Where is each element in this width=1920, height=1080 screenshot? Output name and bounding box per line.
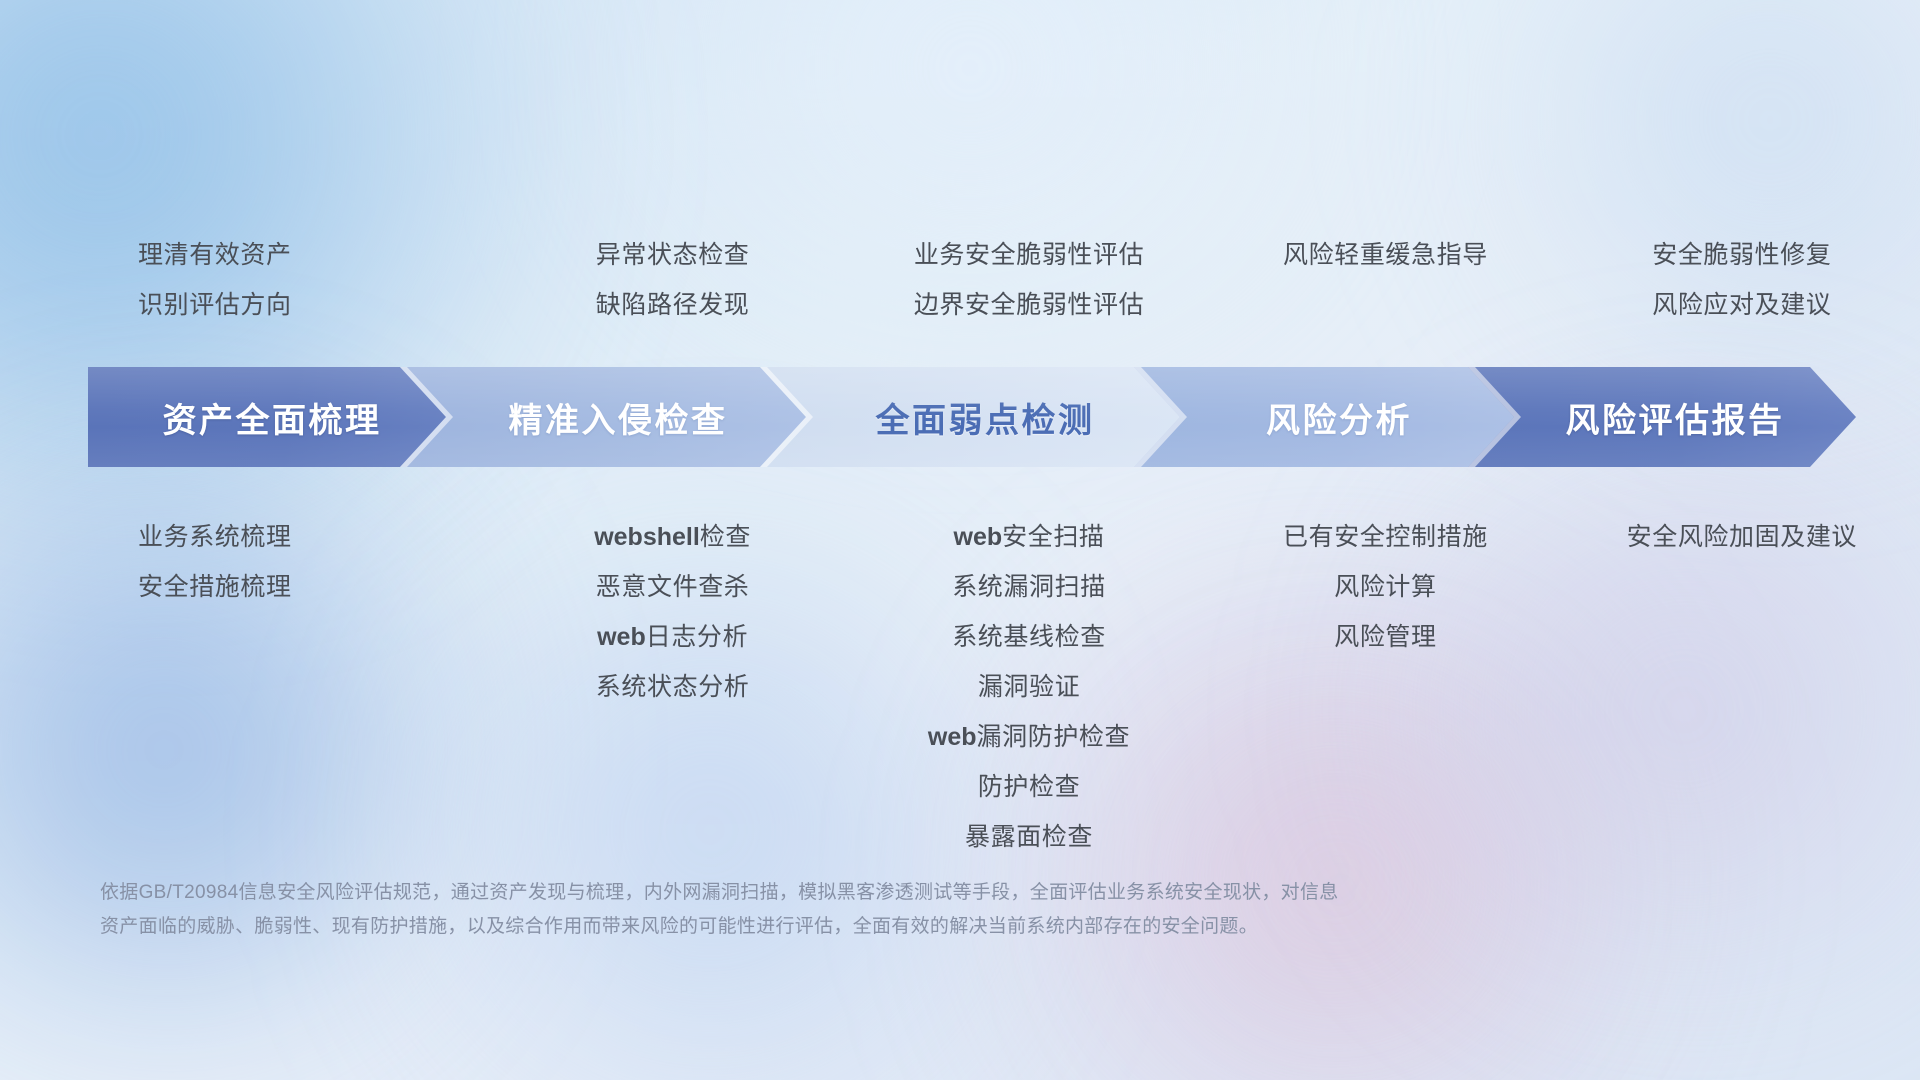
chevron-stage-4-label: 风险分析 [1134, 393, 1518, 442]
stage-1-inputs: 理清有效资产 识别评估方向 [0, 230, 494, 340]
stage-1-output-2: 安全措施梳理 [138, 562, 292, 612]
stage-3-output-5: web漏洞防护检查 [928, 712, 1130, 762]
stage-3-output-1: web安全扫描 [954, 512, 1105, 562]
stage-3-output-3: 系统基线检查 [952, 612, 1106, 662]
stage-1-output-1: 业务系统梳理 [138, 512, 292, 562]
stage-2-output-1: webshell检查 [594, 512, 751, 562]
chevron-stage-5-label: 风险评估报告 [1468, 393, 1856, 442]
chevron-stage-1-label: 资产全面梳理 [88, 393, 450, 442]
stage-3-output-6: 防护检查 [978, 762, 1080, 812]
stage-2-output-3: web日志分析 [597, 612, 748, 662]
chevron-stage-2[interactable]: 精准入侵检查 [400, 367, 810, 467]
stage-5-inputs: 安全脆弱性修复 风险应对及建议 [1564, 230, 1920, 340]
stage-1-input-1: 理清有效资产 [138, 230, 292, 280]
stage-3-input-2: 边界安全脆弱性评估 [914, 280, 1144, 330]
chevron-stage-2-label: 精准入侵检查 [400, 393, 810, 442]
stage-2-output-2: 恶意文件查杀 [596, 562, 750, 612]
stage-5-outputs: 安全风险加固及建议 [1564, 512, 1920, 842]
stage-3-inputs: 业务安全脆弱性评估 边界安全脆弱性评估 [851, 230, 1207, 340]
stage-2-inputs: 异常状态检查 缺陷路径发现 [494, 230, 850, 340]
stage-4-inputs: 风险轻重缓急指导 [1207, 230, 1563, 340]
stage-5-input-1: 安全脆弱性修复 [1652, 230, 1831, 280]
stage-outputs-row: 业务系统梳理 安全措施梳理 webshell检查 恶意文件查杀 web日志分析 … [0, 512, 1920, 842]
stage-3-outputs: web安全扫描 系统漏洞扫描 系统基线检查 漏洞验证 web漏洞防护检查 防护检… [851, 512, 1207, 842]
slide-canvas: 理清有效资产 识别评估方向 异常状态检查 缺陷路径发现 业务安全脆弱性评估 边界… [0, 0, 1920, 1080]
process-diagram: 理清有效资产 识别评估方向 异常状态检查 缺陷路径发现 业务安全脆弱性评估 边界… [0, 0, 1920, 1080]
stage-4-output-3: 风险管理 [1334, 612, 1436, 662]
footer-line-2: 资产面临的威胁、脆弱性、现有防护措施，以及综合作用而带来风险的可能性进行评估，全… [100, 910, 1660, 944]
stage-5-input-2: 风险应对及建议 [1652, 280, 1831, 330]
stage-4-input-1: 风险轻重缓急指导 [1283, 230, 1488, 280]
stage-2-input-2: 缺陷路径发现 [596, 280, 750, 330]
stage-1-input-2: 识别评估方向 [138, 280, 292, 330]
stage-4-output-1: 已有安全控制措施 [1283, 512, 1488, 562]
stage-inputs-row: 理清有效资产 识别评估方向 异常状态检查 缺陷路径发现 业务安全脆弱性评估 边界… [0, 230, 1920, 340]
footer-line-1: 依据GB/T20984信息安全风险评估规范，通过资产发现与梳理，内外网漏洞扫描，… [100, 876, 1660, 910]
footer-description: 依据GB/T20984信息安全风险评估规范，通过资产发现与梳理，内外网漏洞扫描，… [100, 876, 1660, 944]
stage-3-output-7: 暴露面检查 [965, 812, 1093, 862]
stage-3-input-1: 业务安全脆弱性评估 [914, 230, 1144, 280]
chevron-stage-4[interactable]: 风险分析 [1134, 367, 1518, 467]
stage-3-output-4: 漏洞验证 [978, 662, 1080, 712]
stage-2-input-1: 异常状态检查 [596, 230, 750, 280]
chevron-stage-3[interactable]: 全面弱点检测 [760, 367, 1184, 467]
stage-3-output-2: 系统漏洞扫描 [952, 562, 1106, 612]
stage-5-output-1: 安全风险加固及建议 [1627, 512, 1857, 562]
stage-2-outputs: webshell检查 恶意文件查杀 web日志分析 系统状态分析 [494, 512, 850, 842]
stage-4-outputs: 已有安全控制措施 风险计算 风险管理 [1207, 512, 1563, 842]
chevron-stage-3-label: 全面弱点检测 [760, 393, 1184, 442]
stage-2-output-4: 系统状态分析 [596, 662, 750, 712]
chevron-band: 资产全面梳理 精准入侵检查 全面弱点检测 风险分析 风险评估报告 [88, 367, 1856, 467]
chevron-stage-1[interactable]: 资产全面梳理 [88, 367, 450, 467]
stage-1-outputs: 业务系统梳理 安全措施梳理 [0, 512, 494, 842]
chevron-stage-5[interactable]: 风险评估报告 [1468, 367, 1856, 467]
stage-4-output-2: 风险计算 [1334, 562, 1436, 612]
